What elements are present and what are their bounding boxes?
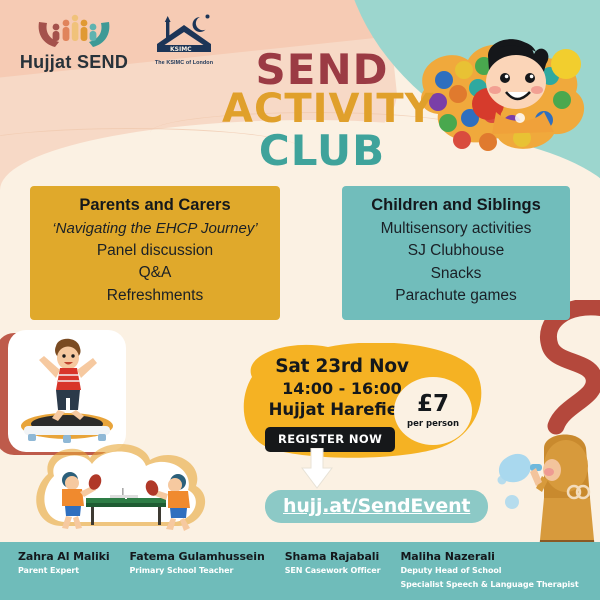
speaker-role: Deputy Head of School (400, 565, 578, 577)
event-date: Sat 23rd Nov (252, 356, 432, 377)
info-box-line: Refreshments (42, 285, 268, 307)
info-box-parents-and-carers: Parents and Carers ‘Navigating the EHCP … (30, 186, 280, 320)
poster-canvas: Hujjat SEND KSIMC The KSIMC of London (0, 0, 600, 600)
red-squiggle-icon (516, 300, 600, 435)
speaker-item: Maliha Nazerali Deputy Head of School Sp… (400, 550, 578, 590)
info-box-line: Q&A (42, 262, 268, 284)
trampoline-child-icon (8, 330, 126, 452)
logo-bar: Hujjat SEND KSIMC The KSIMC of London (18, 8, 222, 73)
speaker-role: Specialist Speech & Language Therapist (400, 579, 578, 591)
price-badge: £7 per person (394, 377, 472, 445)
ksimc-logo: KSIMC The KSIMC of London (146, 8, 222, 66)
info-box-line: Parachute games (354, 285, 558, 307)
headline-line-club: CLUB (222, 131, 422, 170)
hujjat-send-logo-text: Hujjat SEND (20, 52, 128, 73)
speaker-item: Shama Rajabali SEN Casework Officer (285, 550, 381, 577)
speaker-item: Fatema Gulamhussein Primary School Teach… (130, 550, 265, 577)
headline-line-send: SEND (222, 50, 422, 89)
info-box-heading: Parents and Carers (42, 196, 268, 215)
hands-holding-people-icon (35, 8, 113, 50)
speaker-name: Maliha Nazerali (400, 550, 578, 563)
mosque-icon: KSIMC (153, 12, 215, 58)
info-box-line: ‘Navigating the EHCP Journey’ (42, 218, 268, 240)
ksimc-logo-text: The KSIMC of London (155, 60, 213, 66)
price-unit: per person (407, 419, 459, 429)
headline-line-activity: ACTIVITY (222, 91, 422, 129)
info-box-line: Snacks (354, 263, 558, 285)
registration-url-text: hujj.at/SendEvent (283, 495, 470, 517)
speaker-item: Zahra Al Maliki Parent Expert (18, 550, 110, 577)
speaker-role: Primary School Teacher (130, 565, 265, 577)
speaker-name: Shama Rajabali (285, 550, 381, 563)
speaker-role: SEN Casework Officer (285, 565, 381, 577)
hujjat-send-logo: Hujjat SEND (18, 8, 130, 73)
down-arrow-icon (300, 448, 334, 490)
bubble-blowing-child-icon (486, 424, 596, 559)
info-box-line: SJ Clubhouse (354, 240, 558, 262)
trampoline-card (8, 330, 126, 452)
poster-headline: SEND ACTIVITY CLUB (222, 50, 422, 171)
info-box-row: Parents and Carers ‘Navigating the EHCP … (0, 186, 600, 320)
info-box-line: Panel discussion (42, 240, 268, 262)
speaker-name: Fatema Gulamhussein (130, 550, 265, 563)
speaker-role: Parent Expert (18, 565, 110, 577)
price-amount: £7 (417, 393, 449, 416)
info-box-children-and-siblings: Children and Siblings Multisensory activ… (342, 186, 570, 320)
registration-url-pill[interactable]: hujj.at/SendEvent (265, 490, 488, 523)
speakers-footer: Zahra Al Maliki Parent Expert Fatema Gul… (0, 542, 600, 600)
speaker-name: Zahra Al Maliki (18, 550, 110, 563)
info-box-heading: Children and Siblings (354, 196, 558, 215)
info-box-line: Multisensory activities (354, 218, 558, 240)
svg-text:KSIMC: KSIMC (170, 46, 192, 53)
